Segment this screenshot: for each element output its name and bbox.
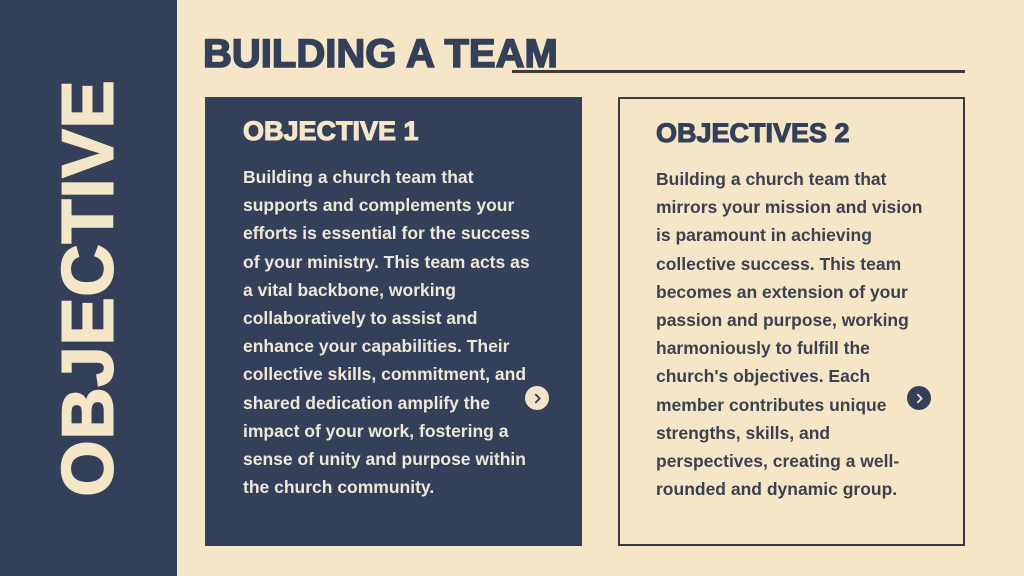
objective-card-1-body: Building a church team that supports and… <box>243 163 543 501</box>
page-title: BUILDING A TEAM <box>203 32 558 76</box>
objective-card-1[interactable]: OBJECTIVE 1 Building a church team that … <box>205 97 582 546</box>
chevron-right-circle-icon-card-1[interactable] <box>525 386 549 410</box>
header-divider-rule <box>512 70 965 73</box>
sidebar-label-wrap: OBJECTIVE <box>0 0 177 576</box>
slide-canvas: OBJECTIVE BUILDING A TEAM OBJECTIVE 1 Bu… <box>0 0 1024 576</box>
objective-card-2-body: Building a church team that mirrors your… <box>656 165 939 503</box>
sidebar: OBJECTIVE <box>0 0 177 576</box>
objective-card-2[interactable]: OBJECTIVES 2 Building a church team that… <box>618 97 965 546</box>
sidebar-vertical-title: OBJECTIVE <box>53 79 125 496</box>
objective-card-2-title: OBJECTIVES 2 <box>656 117 939 149</box>
header: BUILDING A TEAM <box>203 32 993 82</box>
chevron-right-circle-icon-card-2[interactable] <box>907 386 931 410</box>
objective-card-1-title: OBJECTIVE 1 <box>243 115 558 147</box>
